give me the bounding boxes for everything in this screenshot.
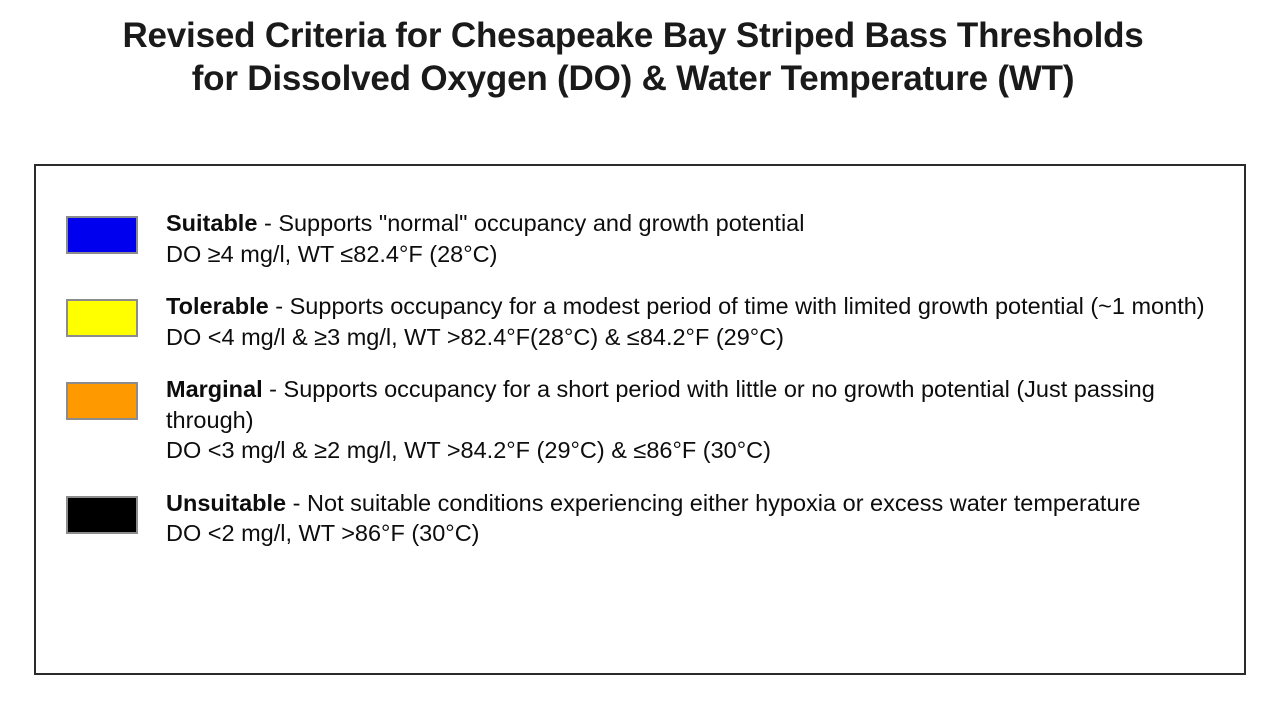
legend-desc-marginal: Supports occupancy for a short period wi… bbox=[166, 376, 1155, 433]
legend-panel: Suitable - Supports "normal" occupancy a… bbox=[34, 164, 1246, 675]
page-title-line-2: for Dissolved Oxygen (DO) & Water Temper… bbox=[0, 57, 1266, 100]
legend-row: Marginal - Supports occupancy for a shor… bbox=[66, 374, 1230, 466]
legend-desc-tolerable: Supports occupancy for a modest period o… bbox=[290, 293, 1205, 319]
legend-separator-tolerable: - bbox=[269, 293, 290, 319]
legend-criteria-suitable: DO ≥4 mg/l, WT ≤82.4°F (28°C) bbox=[166, 239, 1226, 270]
legend-desc-suitable: Supports "normal" occupancy and growth p… bbox=[278, 210, 804, 236]
legend-swatch-cell-tolerable bbox=[66, 291, 166, 337]
legend-desc-unsuitable: Not suitable conditions experiencing eit… bbox=[307, 490, 1140, 516]
legend-swatch-cell-suitable bbox=[66, 208, 166, 254]
legend-description-marginal: Marginal - Supports occupancy for a shor… bbox=[166, 374, 1226, 435]
legend-text-marginal: Marginal - Supports occupancy for a shor… bbox=[166, 374, 1226, 466]
legend-text-unsuitable: Unsuitable - Not suitable conditions exp… bbox=[166, 488, 1226, 549]
legend-criteria-marginal: DO <3 mg/l & ≥2 mg/l, WT >84.2°F (29°C) … bbox=[166, 435, 1226, 466]
legend-separator-unsuitable: - bbox=[286, 490, 307, 516]
legend-text-suitable: Suitable - Supports "normal" occupancy a… bbox=[166, 208, 1226, 269]
color-swatch-unsuitable bbox=[66, 496, 138, 534]
legend-swatch-cell-unsuitable bbox=[66, 488, 166, 534]
legend-separator-suitable: - bbox=[257, 210, 278, 236]
legend-row-list: Suitable - Supports "normal" occupancy a… bbox=[66, 208, 1230, 549]
legend-description-suitable: Suitable - Supports "normal" occupancy a… bbox=[166, 208, 1226, 239]
legend-swatch-cell-marginal bbox=[66, 374, 166, 420]
page-title: Revised Criteria for Chesapeake Bay Stri… bbox=[0, 14, 1266, 100]
legend-row: Unsuitable - Not suitable conditions exp… bbox=[66, 488, 1230, 549]
legend-separator-marginal: - bbox=[263, 376, 284, 402]
legend-term-unsuitable: Unsuitable bbox=[166, 490, 286, 516]
legend-criteria-tolerable: DO <4 mg/l & ≥3 mg/l, WT >82.4°F(28°C) &… bbox=[166, 322, 1226, 353]
legend-text-tolerable: Tolerable - Supports occupancy for a mod… bbox=[166, 291, 1226, 352]
legend-row: Suitable - Supports "normal" occupancy a… bbox=[66, 208, 1230, 269]
legend-row: Tolerable - Supports occupancy for a mod… bbox=[66, 291, 1230, 352]
legend-description-unsuitable: Unsuitable - Not suitable conditions exp… bbox=[166, 488, 1226, 519]
page-title-line-1: Revised Criteria for Chesapeake Bay Stri… bbox=[0, 14, 1266, 57]
color-swatch-suitable bbox=[66, 216, 138, 254]
legend-term-tolerable: Tolerable bbox=[166, 293, 269, 319]
legend-description-tolerable: Tolerable - Supports occupancy for a mod… bbox=[166, 291, 1226, 322]
legend-criteria-unsuitable: DO <2 mg/l, WT >86°F (30°C) bbox=[166, 518, 1226, 549]
legend-term-suitable: Suitable bbox=[166, 210, 257, 236]
color-swatch-marginal bbox=[66, 382, 138, 420]
legend-term-marginal: Marginal bbox=[166, 376, 263, 402]
color-swatch-tolerable bbox=[66, 299, 138, 337]
